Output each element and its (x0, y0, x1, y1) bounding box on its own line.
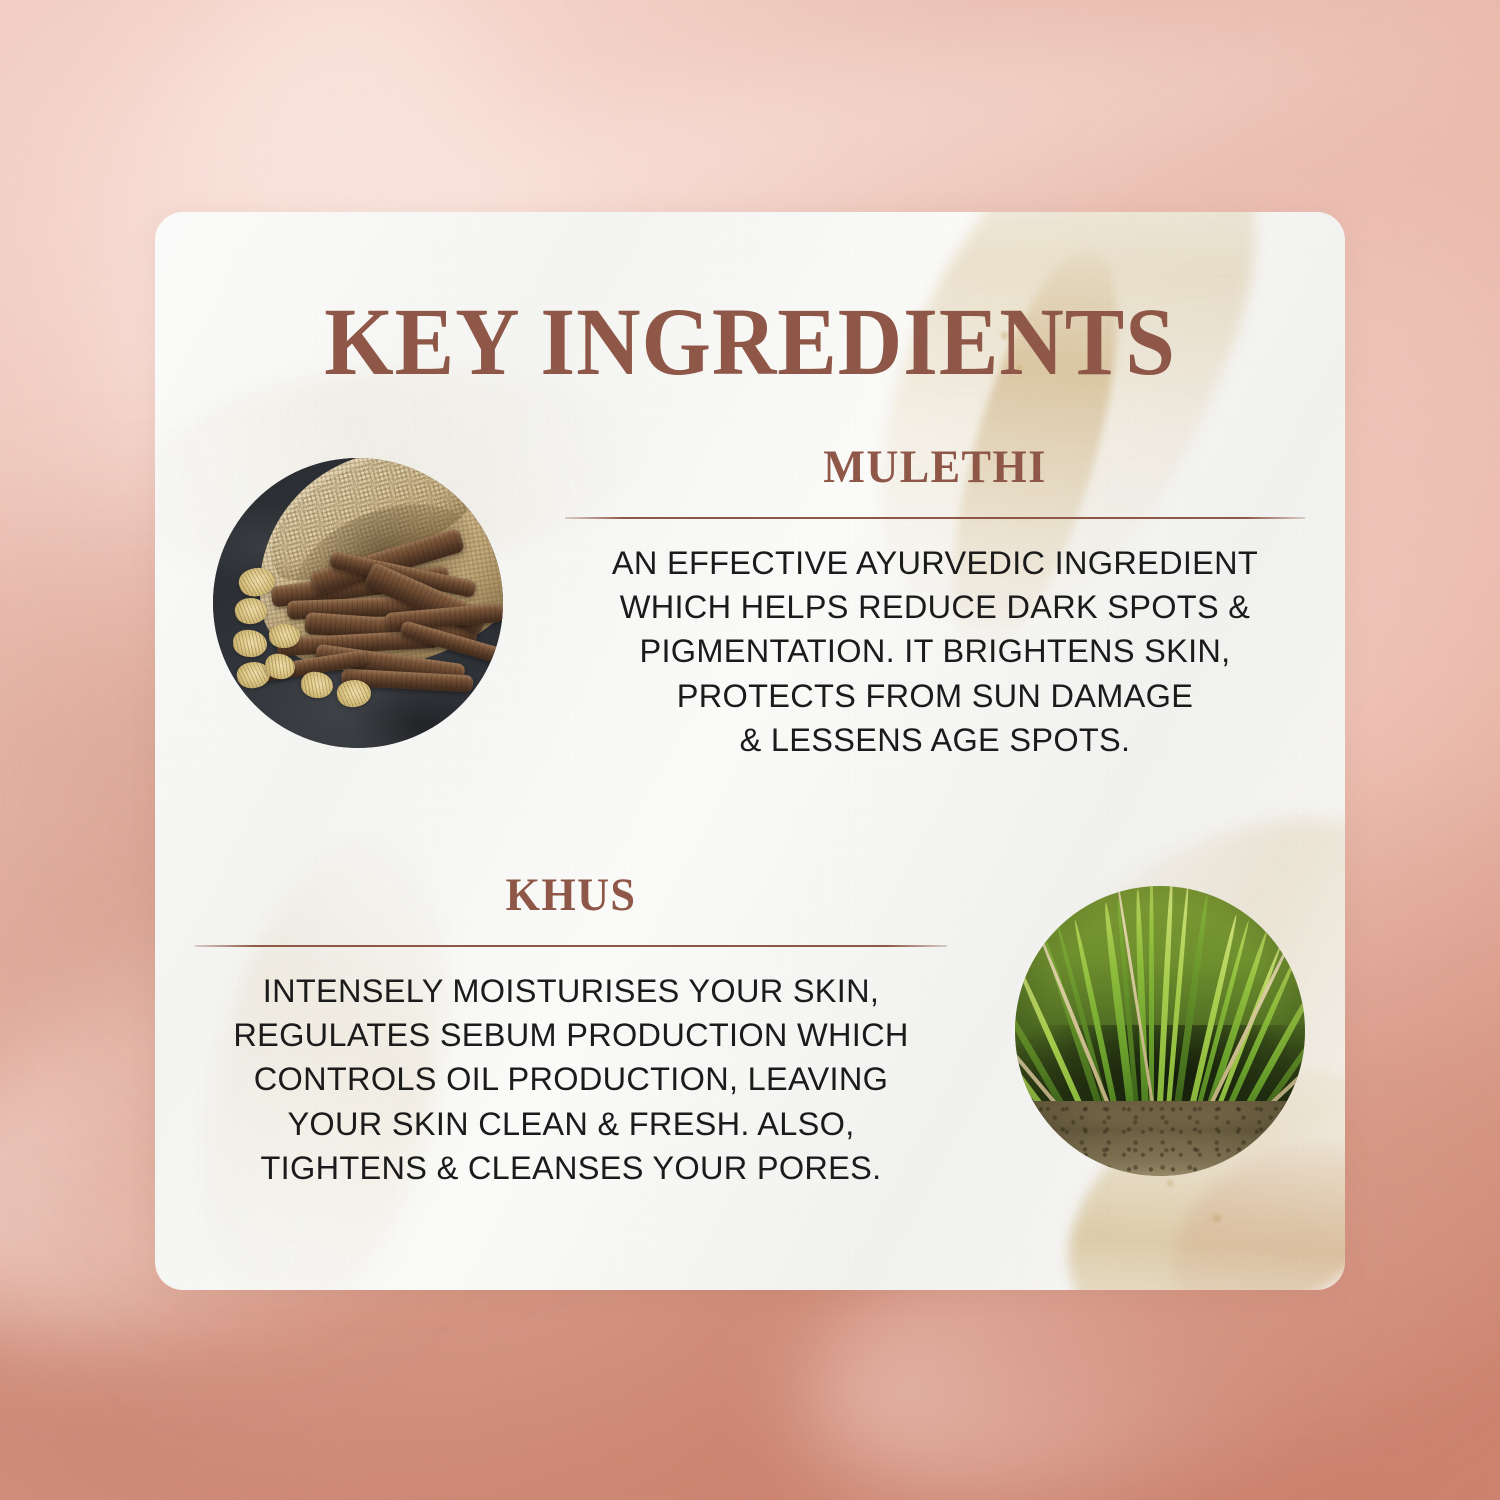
ingredients-card: KEY INGREDIENTS (155, 212, 1345, 1290)
ingredient-divider-khus (195, 945, 947, 947)
ingredient-name-mulethi: MULETHI (587, 444, 1283, 491)
mulethi-photo (213, 458, 503, 748)
page-title: KEY INGREDIENTS (197, 294, 1304, 390)
ingredient-block-khus: KHUS INTENSELY MOISTURISES YOUR SKIN, RE… (195, 872, 1305, 1190)
ingredient-divider-mulethi (565, 517, 1305, 519)
ingredient-block-mulethi: MULETHI AN EFFECTIVE AYURVEDIC INGREDIEN… (213, 444, 1305, 762)
photo-vignette (1015, 886, 1305, 1176)
ingredient-copy-mulethi: MULETHI AN EFFECTIVE AYURVEDIC INGREDIEN… (565, 444, 1305, 762)
ingredient-description-mulethi: AN EFFECTIVE AYURVEDIC INGREDIENT WHICH … (565, 541, 1305, 762)
ingredient-image-mulethi (213, 458, 503, 748)
ingredient-copy-khus: KHUS INTENSELY MOISTURISES YOUR SKIN, RE… (195, 872, 947, 1190)
ingredient-image-khus (1015, 886, 1305, 1176)
ingredient-name-khus: KHUS (218, 872, 925, 919)
ingredient-description-khus: INTENSELY MOISTURISES YOUR SKIN, REGULAT… (195, 969, 947, 1190)
khus-photo (1015, 886, 1305, 1176)
